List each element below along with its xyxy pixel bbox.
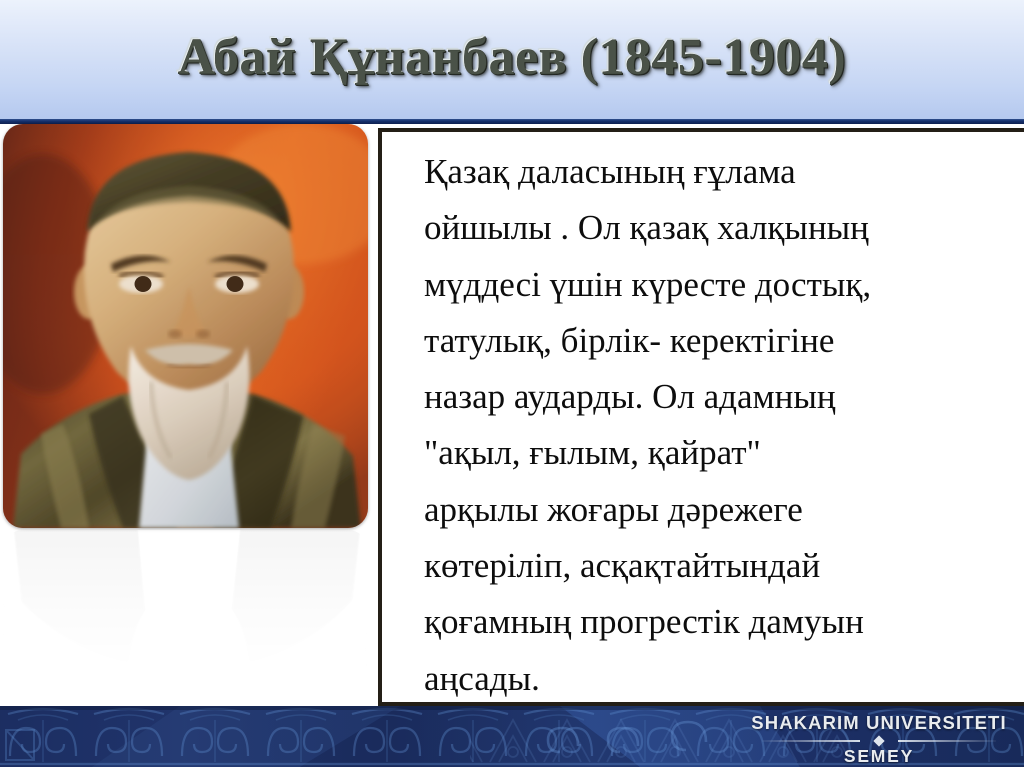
content-textbox: Қазақ даласының ғұлама ойшылы . Ол қазақ… bbox=[378, 128, 1024, 706]
university-logo: SHAKARIM UNIVERSITETI SEMEY bbox=[748, 712, 1010, 767]
portrait-figure bbox=[3, 124, 368, 528]
logo-divider-bar-right bbox=[898, 740, 996, 742]
portrait-artwork bbox=[3, 124, 368, 528]
page-title: Абай Құнанбаев (1845-1904) bbox=[0, 26, 1024, 90]
portrait-image bbox=[3, 124, 368, 528]
reflection-fade-overlay bbox=[3, 530, 368, 680]
logo-city-name: SEMEY bbox=[748, 746, 1010, 767]
logo-diamond-icon bbox=[873, 735, 884, 746]
body-paragraph: Қазақ даласының ғұлама ойшылы . Ол қазақ… bbox=[424, 144, 1024, 707]
logo-divider-bar-left bbox=[762, 740, 860, 742]
logo-divider bbox=[748, 735, 1010, 746]
portrait-reflection bbox=[3, 530, 368, 680]
logo-university-name: SHAKARIM UNIVERSITETI bbox=[748, 712, 1010, 734]
slide-root: Абай Құнанбаев (1845-1904) bbox=[0, 0, 1024, 767]
